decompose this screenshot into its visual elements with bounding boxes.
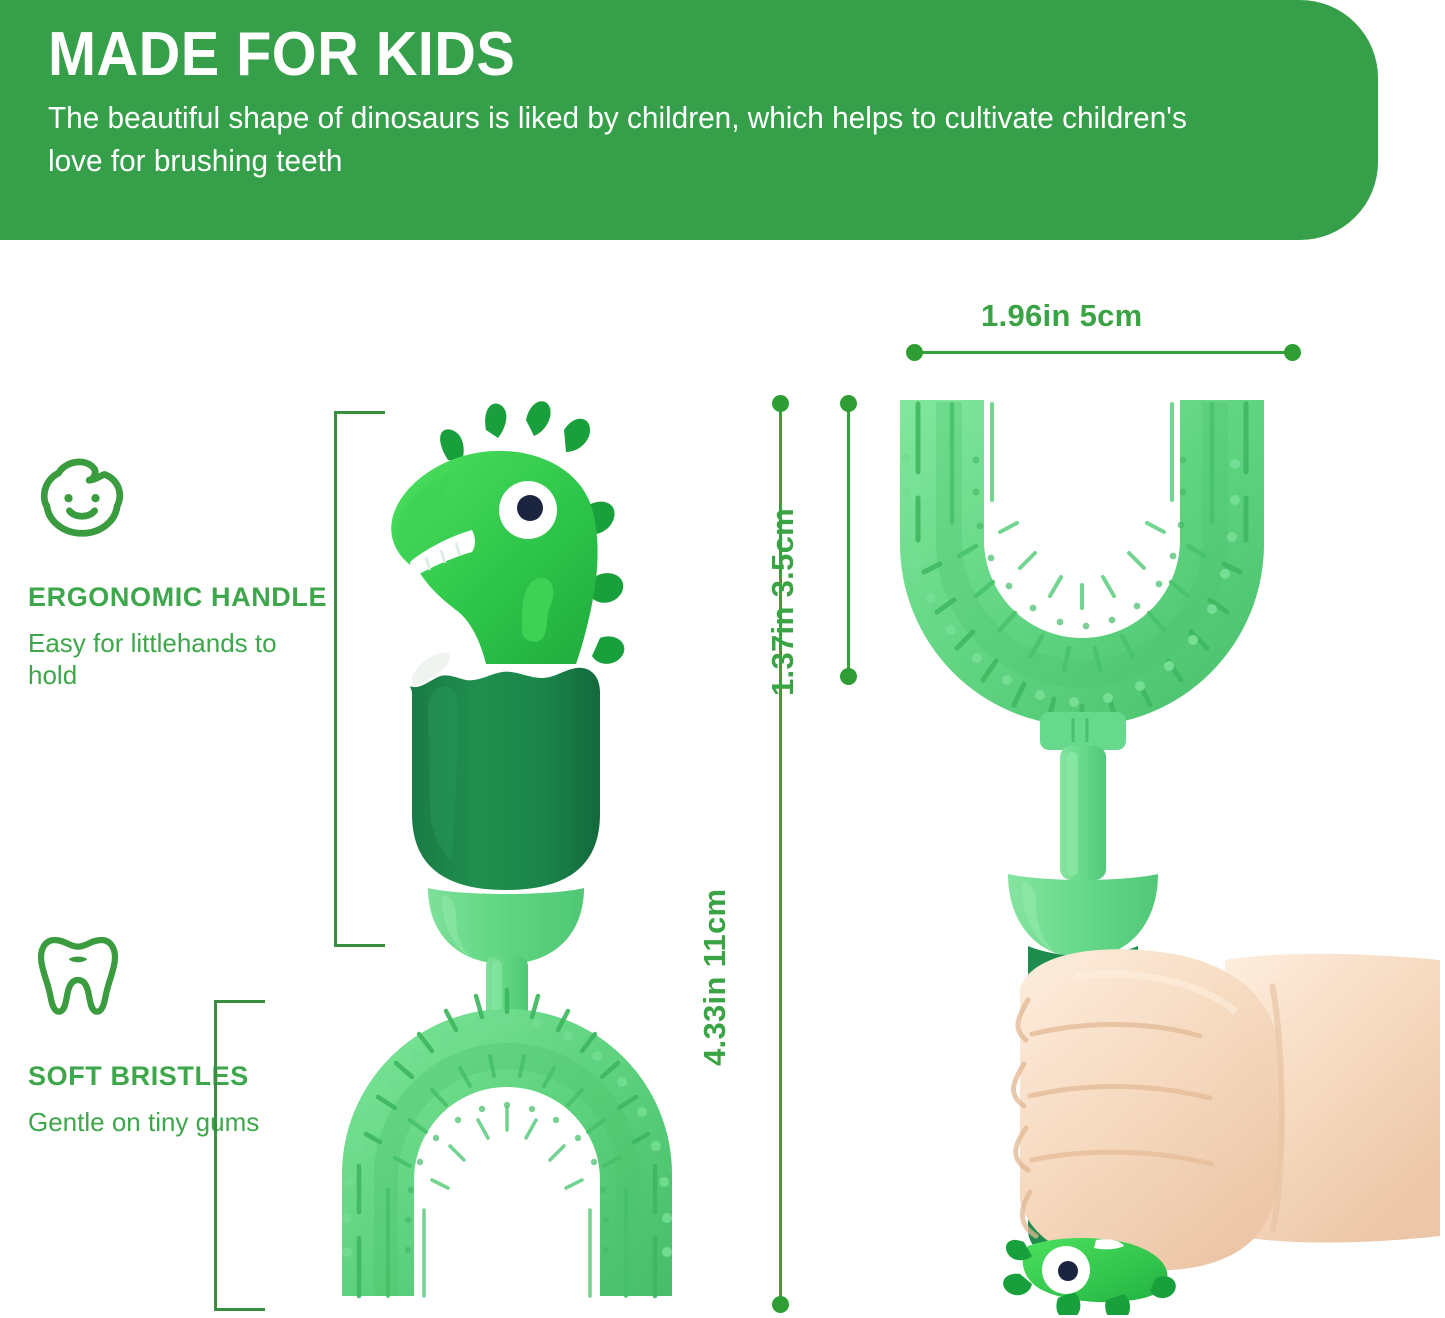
page-title: MADE FOR KIDS [48, 22, 1285, 87]
egg-handle [410, 668, 600, 890]
dimension-endpoint-dot [840, 395, 857, 412]
header-subtitle: The beautiful shape of dinosaurs is like… [48, 97, 1238, 183]
collar-right [1008, 874, 1158, 958]
product-dinosaur-toothbrush [300, 390, 720, 1300]
u-brush-head [342, 990, 672, 1296]
child-hand [1014, 949, 1441, 1270]
dimension-endpoint-dot [840, 668, 857, 685]
dinosaur-topper [391, 401, 624, 696]
dimension-line-head-height [847, 402, 850, 675]
product-toothbrush-in-hand [880, 380, 1440, 1315]
feature-ergonomic-handle: ERGONOMIC HANDLE Easy for littlehands to… [28, 446, 328, 692]
dimension-endpoint-dot [1284, 344, 1301, 361]
dimension-label-head-width: 1.96in 5cm [981, 298, 1143, 334]
baby-face-icon [28, 446, 328, 556]
feature-description: Gentle on tiny gums [28, 1107, 328, 1139]
dimension-label-head-height: 1.37in 3.5cm [765, 508, 801, 696]
stem-right [1040, 712, 1126, 880]
dimension-endpoint-dot [772, 395, 789, 412]
u-brush-head-right [900, 400, 1264, 730]
feature-title: SOFT BRISTLES [28, 1061, 328, 1091]
dimension-line-head-width [913, 351, 1291, 354]
collar [428, 888, 584, 964]
dimension-endpoint-dot [906, 344, 923, 361]
dimension-endpoint-dot [772, 1296, 789, 1313]
dimension-label-total-length: 4.33in 11cm [697, 889, 733, 1066]
feature-title: ERGONOMIC HANDLE [28, 582, 328, 612]
feature-soft-bristles: SOFT BRISTLES Gentle on tiny gums [28, 925, 328, 1139]
tooth-icon [28, 925, 328, 1035]
feature-description: Easy for littlehands to hold [28, 628, 328, 691]
bracket-bristles-callout [214, 1000, 265, 1311]
header-banner: MADE FOR KIDS The beautiful shape of din… [0, 0, 1378, 240]
